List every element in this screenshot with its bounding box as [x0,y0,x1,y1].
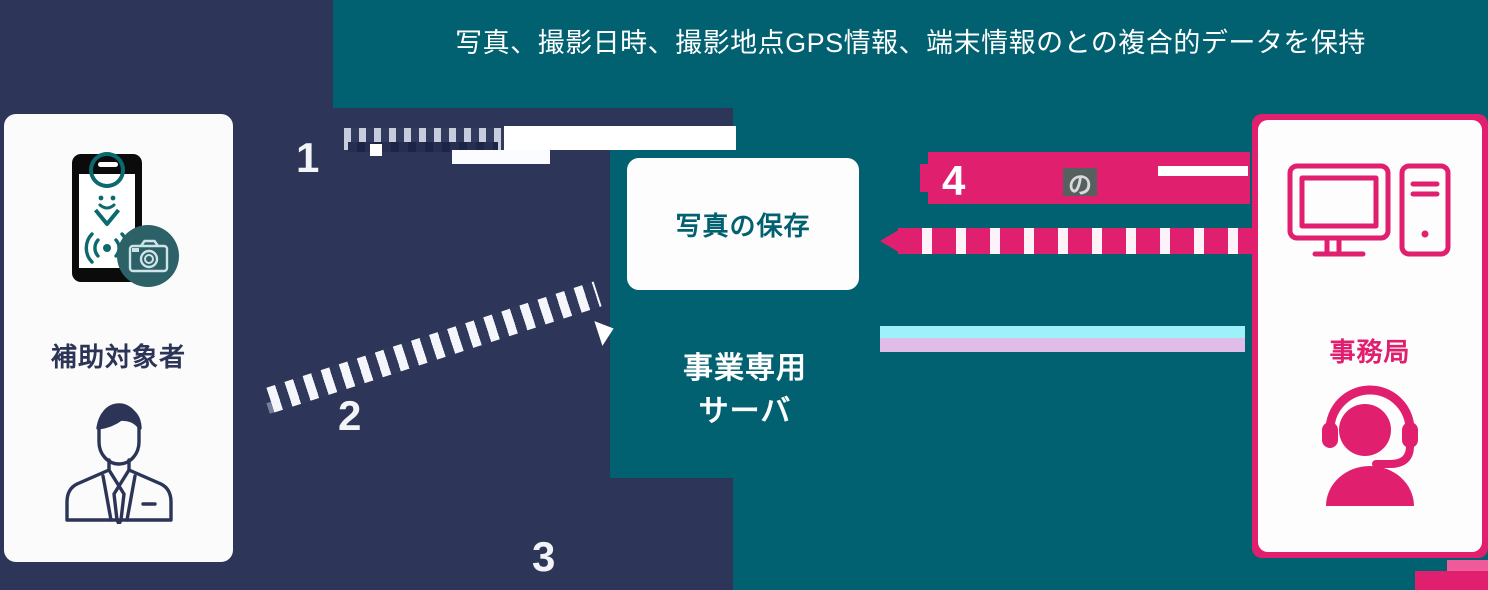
pc-tower-icon [1402,166,1448,254]
step-1-arrow-band [504,126,736,150]
card-subsidy-recipient[interactable]: 補助対象者 [2,112,235,564]
step-2-arrow [258,290,610,402]
step-4-arrow [880,228,1252,254]
server-title-line1: 事業専用 [610,348,880,391]
left-card-label: 補助対象者 [4,337,233,374]
step-1-arrow-tip [370,144,382,156]
server-photo-storage-card: 写真の保存 [627,158,859,290]
desktop-computer-icon [1285,160,1455,275]
card-office[interactable]: 事務局 [1258,120,1482,552]
cyan-divider-bar [880,326,1245,338]
step-2-arrow-dashes [266,281,601,412]
step-1-number: 1 [296,134,319,182]
pink-corner-accent [1415,571,1488,590]
step-4-band-glitch-char: の [1063,168,1097,196]
support-agent-icon [1308,382,1432,511]
step-4-number: 4 [942,157,965,205]
header-title: 写真、撮影日時、撮影地点GPS情報、端末情報のとの複合的データを保持 [333,0,1488,80]
step-4-band-white-dash [1158,166,1248,176]
smartphone-gps-icon [54,150,184,305]
step-2-number: 2 [338,392,361,440]
lilac-divider-bar [880,338,1245,352]
server-photo-storage-label: 写真の保存 [675,206,810,243]
step-3-number: 3 [532,533,555,581]
diagram-canvas: 写真、撮影日時、撮影地点GPS情報、端末情報のとの複合的データを保持 1 2 3… [0,0,1488,590]
step-1-arrow-band-lower [452,150,550,164]
server-title: 事業専用 サーバ [610,348,880,433]
person-icon [59,392,179,529]
right-card-label: 事務局 [1258,332,1482,369]
step-4-arrow-dashes [898,228,1252,254]
server-title-line2: サーバ [610,391,880,434]
